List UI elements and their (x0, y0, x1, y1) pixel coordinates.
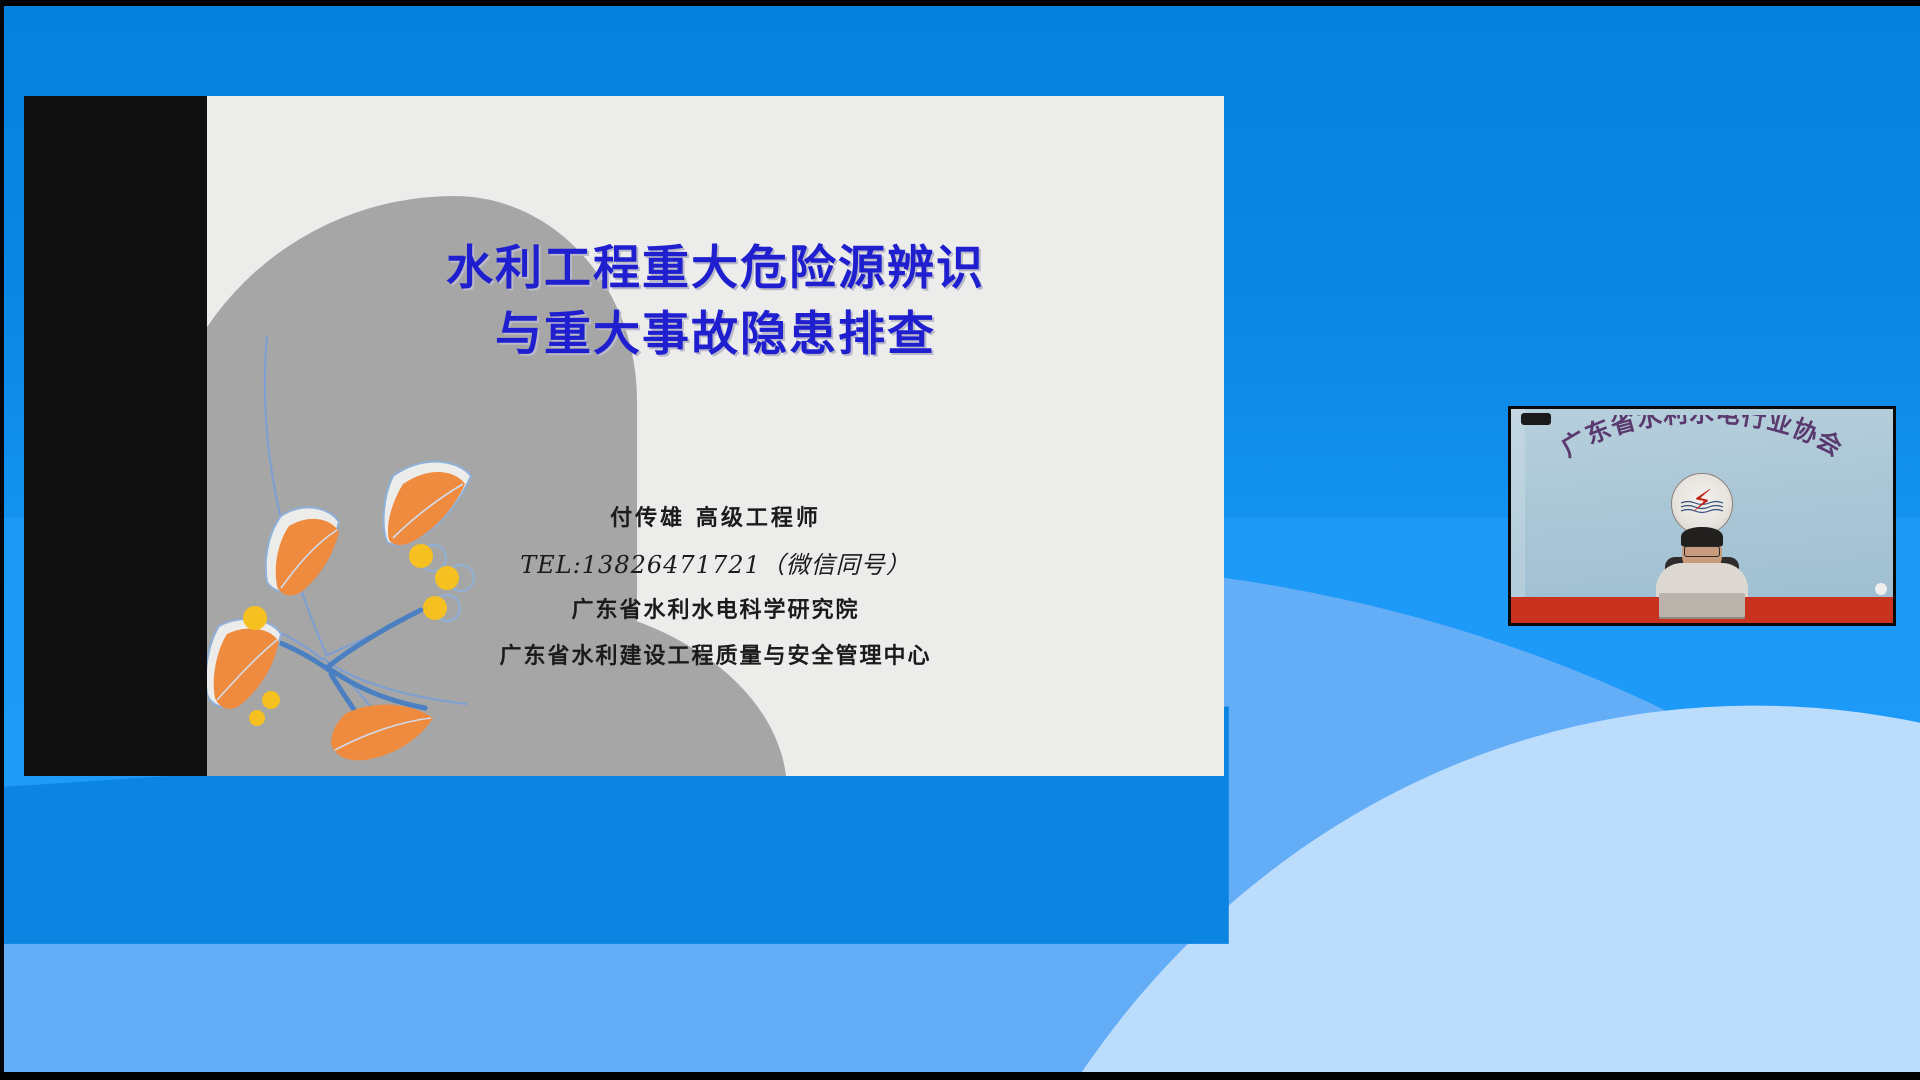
svg-text:广东省水利水电行业协会: 广东省水利水电行业协会 (1556, 415, 1848, 462)
pip-association-logo: ⚡ (1671, 473, 1733, 535)
screen-bottom-border (0, 1072, 1920, 1080)
slide-title: 水利工程重大危险源辨识 与重大事故隐患排查 (207, 236, 1224, 368)
pip-banner-text: 广东省水利水电行业协会 (1556, 415, 1848, 462)
author-organization-1: 广东省水利水电科学研究院 (207, 588, 1224, 634)
pip-laptop (1659, 593, 1745, 619)
screen-left-border (0, 0, 4, 1080)
pip-desk-object (1875, 583, 1887, 595)
author-name-and-role: 付传雄 高级工程师 (207, 496, 1224, 542)
meeting-stage: 水利工程重大危险源辨识 与重大事故隐患排查 付传雄 高级工程师 TEL:1382… (0, 0, 1920, 1080)
presenter-video-tile[interactable]: 广东省水利水电行业协会 ⚡ (1508, 406, 1896, 626)
pip-presenter-hair (1681, 527, 1723, 547)
slide-author-block: 付传雄 高级工程师 TEL:13826471721（微信同号） 广东省水利水电科… (207, 496, 1224, 680)
author-telephone: TEL:13826471721（微信同号） (207, 542, 1224, 588)
shared-screen-frame[interactable]: 水利工程重大危险源辨识 与重大事故隐患排查 付传雄 高级工程师 TEL:1382… (24, 96, 1224, 776)
presentation-slide: 水利工程重大危险源辨识 与重大事故隐患排查 付传雄 高级工程师 TEL:1382… (207, 96, 1224, 776)
logo-bolt-icon: ⚡ (1691, 487, 1712, 517)
slide-title-line-1: 水利工程重大危险源辨识 (446, 241, 985, 296)
pip-presenter-glasses-icon (1684, 546, 1720, 557)
screen-top-border (0, 0, 1920, 6)
slide-title-line-2: 与重大事故隐患排查 (207, 302, 1224, 368)
author-organization-2: 广东省水利建设工程质量与安全管理中心 (207, 634, 1224, 680)
